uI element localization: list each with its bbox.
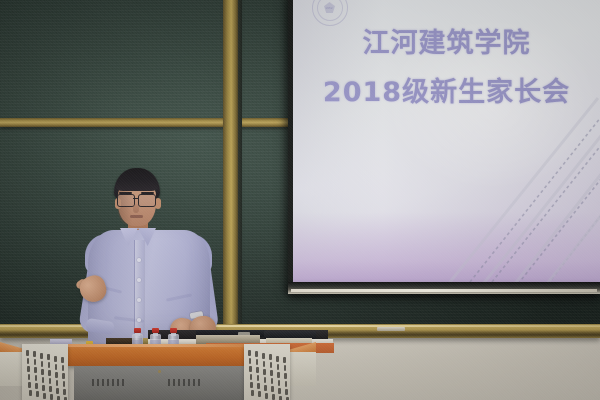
panel-slot <box>265 393 268 399</box>
panel-slot <box>35 383 38 389</box>
panel-slot <box>36 391 39 397</box>
shirt-button <box>137 318 141 322</box>
panel-slot <box>285 389 288 395</box>
panel-slot <box>49 378 52 384</box>
panel-slot <box>48 370 51 376</box>
panel-slot <box>277 372 280 378</box>
speaker-mouth <box>130 215 143 218</box>
panel-slot <box>284 365 287 371</box>
bottle-cap <box>152 328 159 333</box>
shirt-button <box>137 278 141 282</box>
projection-screen-bottom-bar <box>288 282 600 294</box>
panel-slot <box>262 353 265 359</box>
panel-slot <box>34 359 37 365</box>
panel-slot <box>278 380 281 386</box>
panel-slot <box>250 382 253 388</box>
panel-slot <box>277 364 280 370</box>
panel-slot <box>248 350 251 356</box>
panel-slot <box>279 396 282 400</box>
panel-slot <box>55 372 58 378</box>
panel-slot <box>263 361 266 367</box>
panel-slot <box>35 375 38 381</box>
panel-slot <box>56 380 59 386</box>
panel-slot <box>62 373 65 379</box>
panel-slot <box>28 382 31 388</box>
panel-slot <box>257 375 260 381</box>
panel-slot <box>28 374 31 380</box>
panel-perforations <box>22 344 68 400</box>
panel-slot <box>40 353 43 359</box>
panel-slot <box>263 369 266 375</box>
panel-slot <box>271 378 274 384</box>
panel-slot <box>269 354 272 360</box>
slide-title-line-2: 2018级新生家长会 <box>323 77 570 109</box>
panel-slot <box>270 362 273 368</box>
panel-slot <box>57 396 60 400</box>
panel-slot <box>255 351 258 357</box>
panel-slot <box>42 385 45 391</box>
speaker <box>70 168 230 353</box>
panel-slot <box>56 388 59 394</box>
panel-slot <box>251 390 254 396</box>
panel-slot <box>48 362 51 368</box>
panel-slot <box>256 359 259 365</box>
glasses-lens-right <box>138 194 156 207</box>
panel-slot <box>41 361 44 367</box>
blackboard-rail-shadow <box>238 0 242 332</box>
panel-slot <box>270 370 273 376</box>
panel-slot <box>29 390 32 396</box>
panel-slot <box>42 377 45 383</box>
panel-slot <box>264 377 267 383</box>
podium-side-panel-right <box>244 344 290 400</box>
panel-slot <box>33 351 36 357</box>
podium-wing-body-right <box>288 352 316 386</box>
speaker-nose <box>133 204 139 213</box>
panel-slot <box>47 354 50 360</box>
panel-slot <box>50 394 53 400</box>
panel-slot <box>27 366 30 372</box>
panel-slot <box>285 381 288 387</box>
panel-slot <box>62 365 65 371</box>
panel-slot <box>283 357 286 363</box>
panel-slot <box>271 386 274 392</box>
panel-slot <box>49 386 52 392</box>
podium-area <box>0 330 600 400</box>
panel-slot <box>34 367 37 373</box>
panel-slot <box>276 356 279 362</box>
speaker-hair-fringe <box>116 178 158 191</box>
podium-indicator <box>158 370 161 373</box>
panel-slot <box>55 364 58 370</box>
podium-desktop <box>68 344 250 366</box>
podium-desktop-highlight <box>68 344 250 347</box>
panel-slot <box>54 356 57 362</box>
panel-slot <box>61 357 64 363</box>
panel-slot <box>249 366 252 372</box>
podium-vent-left <box>92 379 126 386</box>
panel-slot <box>41 369 44 375</box>
panel-slot <box>264 385 267 391</box>
slide-title-line-1: 江河建筑学院 <box>363 28 531 60</box>
panel-slot <box>258 391 261 397</box>
panel-slot <box>257 383 260 389</box>
panel-slot <box>272 394 275 400</box>
podium-side-panel-left <box>22 344 68 400</box>
panel-slot <box>63 389 66 395</box>
panel-slot <box>43 393 46 399</box>
projection-screen-bar-highlight <box>291 289 597 292</box>
panel-slot <box>26 350 29 356</box>
panel-slot <box>256 367 259 373</box>
panel-slot <box>63 381 66 387</box>
panel-slot <box>27 358 30 364</box>
slide-content: 江河建筑学院 2018级新生家长会 <box>293 0 600 288</box>
panel-slot <box>250 374 253 380</box>
podium-vent-right <box>168 379 202 386</box>
panel-slot <box>284 373 287 379</box>
shirt-button <box>137 298 141 302</box>
panel-perforations <box>244 344 290 400</box>
panel-slot <box>278 388 281 394</box>
bottle-cap <box>134 328 141 333</box>
shirt-button <box>137 258 141 262</box>
panel-slot <box>249 358 252 364</box>
lecture-hall-photo: 1952 江河建筑学院 2018级新生家长会 <box>0 0 600 400</box>
bottle-cap <box>170 328 177 333</box>
